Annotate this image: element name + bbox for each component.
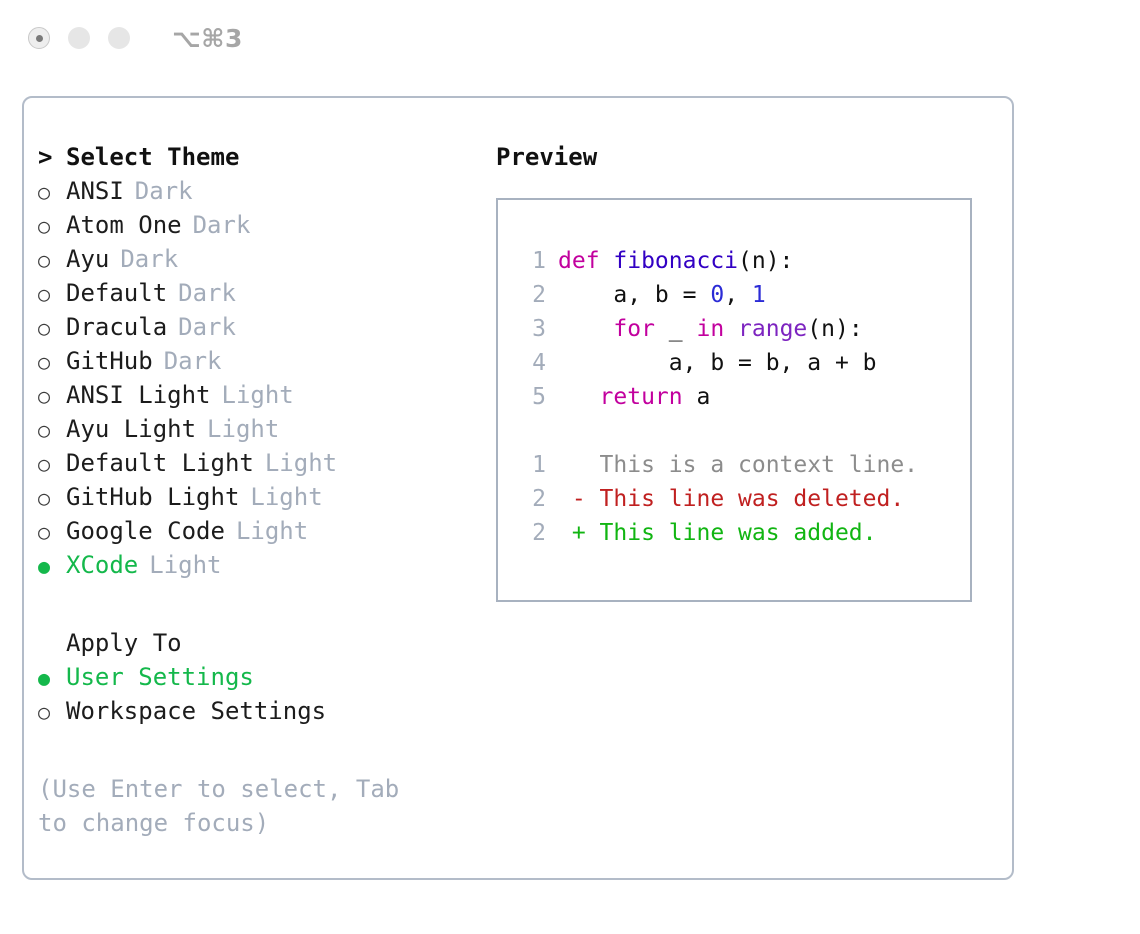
apply-to-option-workspace-settings[interactable]: ○Workspace Settings [38,694,484,728]
theme-option-github-light[interactable]: ○GitHub LightLight [38,480,484,514]
token-plain: a, b = b, a + b [558,350,877,376]
token-call: range [738,316,807,342]
theme-option-tag: Dark [120,242,178,276]
radio-selected-icon: ● [38,661,66,695]
code-text: def fibonacci(n): [558,244,793,278]
theme-option-tag: Dark [164,344,222,378]
diff-line: 2 + This line was added. [512,516,970,550]
prompt-caret-icon: > [38,140,66,174]
radio-unselected-icon: ○ [38,345,66,379]
theme-option-label: Google Code [66,514,225,548]
theme-option-label: XCode [66,548,138,582]
theme-option-label: ANSI [66,174,124,208]
line-number: 2 [512,278,546,312]
token-plain [724,316,738,342]
code-text: a, b = b, a + b [558,346,877,380]
theme-option-tag: Light [149,548,221,582]
theme-option-google-code[interactable]: ○Google CodeLight [38,514,484,548]
theme-option-ansi[interactable]: ○ANSIDark [38,174,484,208]
code-line: 3 for _ in range(n): [512,312,970,346]
line-number: 3 [512,312,546,346]
apply-to-option-user-settings[interactable]: ●User Settings [38,660,484,694]
token-fn: fibonacci [613,248,738,274]
token-plain: , [724,282,752,308]
apply-to-section: Apply To ●User Settings○Workspace Settin… [38,626,484,728]
token-plain: _ [655,316,697,342]
window-close-button[interactable] [28,27,50,49]
keyboard-shortcut-label: ⌥⌘3 [172,24,243,53]
panel-columns: > Select Theme ○ANSIDark○Atom OneDark○Ay… [24,98,1012,878]
token-kw: for [558,316,655,342]
code-preview-box: 1def fibonacci(n):2 a, b = 0, 13 for _ i… [496,198,972,602]
radio-unselected-icon: ○ [38,243,66,277]
token-kw: return [558,384,683,410]
theme-option-xcode[interactable]: ●XCodeLight [38,548,484,582]
code-text: a, b = 0, 1 [558,278,766,312]
code-sample: 1def fibonacci(n):2 a, b = 0, 13 for _ i… [512,244,970,414]
title-bar: ⌥⌘3 [0,0,1140,76]
code-text: for _ in range(n): [558,312,863,346]
theme-option-default[interactable]: ○DefaultDark [38,276,484,310]
select-theme-heading-label: Select Theme [66,140,239,174]
token-num: 1 [752,282,766,308]
theme-option-tag: Light [265,446,337,480]
code-line: 4 a, b = b, a + b [512,346,970,380]
app-window: ⌥⌘3 > Select Theme ○ANSIDark○Atom OneDar… [0,0,1140,934]
preview-column: Preview 1def fibonacci(n):2 a, b = 0, 13… [484,140,1012,878]
token-add: + This line was added. [558,520,877,546]
code-spacer [512,414,970,448]
theme-option-label: Default Light [66,446,254,480]
code-line: 2 a, b = 0, 1 [512,278,970,312]
theme-option-label: Ayu Light [66,412,196,446]
window-maximize-button[interactable] [108,27,130,49]
theme-option-tag: Light [236,514,308,548]
line-number: 4 [512,346,546,380]
radio-unselected-icon: ○ [38,695,66,729]
radio-unselected-icon: ○ [38,413,66,447]
line-number: 5 [512,380,546,414]
apply-to-heading-label: Apply To [66,626,182,660]
theme-list: ○ANSIDark○Atom OneDark○AyuDark○DefaultDa… [38,174,484,582]
radio-unselected-icon: ○ [38,481,66,515]
code-line: 1def fibonacci(n): [512,244,970,278]
apply-to-list: ●User Settings○Workspace Settings [38,660,484,728]
window-minimize-button[interactable] [68,27,90,49]
theme-option-default-light[interactable]: ○Default LightLight [38,446,484,480]
theme-option-ansi-light[interactable]: ○ANSI LightLight [38,378,484,412]
theme-option-atom-one[interactable]: ○Atom OneDark [38,208,484,242]
theme-option-ayu[interactable]: ○AyuDark [38,242,484,276]
diff-line: 2 - This line was deleted. [512,482,970,516]
radio-unselected-icon: ○ [38,447,66,481]
token-plain: (n): [738,248,793,274]
theme-option-tag: Dark [193,208,251,242]
line-number: 1 [512,448,546,482]
apply-to-heading: Apply To [38,626,484,660]
theme-option-label: Dracula [66,310,167,344]
token-plain: (n): [807,316,862,342]
theme-option-label: Default [66,276,167,310]
token-plain: a, b = [558,282,710,308]
theme-option-label: GitHub [66,344,153,378]
theme-selection-column: > Select Theme ○ANSIDark○Atom OneDark○Ay… [24,140,484,878]
radio-unselected-icon: ○ [38,379,66,413]
theme-option-tag: Light [222,378,294,412]
token-ctx: This is a context line. [558,452,918,478]
radio-selected-icon: ● [38,549,66,583]
radio-unselected-icon: ○ [38,175,66,209]
theme-option-tag: Light [207,412,279,446]
preview-heading: Preview [496,140,1012,174]
token-plain: a [683,384,711,410]
code-text: This is a context line. [558,448,918,482]
theme-option-tag: Dark [178,276,236,310]
theme-option-dracula[interactable]: ○DraculaDark [38,310,484,344]
diff-sample: 1 This is a context line.2 - This line w… [512,448,970,550]
theme-option-label: Ayu [66,242,109,276]
theme-option-ayu-light[interactable]: ○Ayu LightLight [38,412,484,446]
keyboard-hint-text: (Use Enter to select, Tab to change focu… [38,772,438,840]
radio-unselected-icon: ○ [38,277,66,311]
line-number: 2 [512,482,546,516]
code-line: 5 return a [512,380,970,414]
line-number: 2 [512,516,546,550]
theme-option-tag: Dark [178,310,236,344]
apply-to-option-label: User Settings [66,660,254,694]
theme-option-tag: Dark [135,174,193,208]
theme-option-github[interactable]: ○GitHubDark [38,344,484,378]
apply-to-option-label: Workspace Settings [66,694,326,728]
radio-unselected-icon: ○ [38,515,66,549]
code-text: + This line was added. [558,516,877,550]
select-theme-heading: > Select Theme [38,140,484,174]
token-num: 0 [710,282,724,308]
main-panel: > Select Theme ○ANSIDark○Atom OneDark○Ay… [22,96,1014,880]
theme-option-label: GitHub Light [66,480,239,514]
code-text: return a [558,380,710,414]
theme-option-tag: Light [250,480,322,514]
theme-option-label: ANSI Light [66,378,211,412]
code-text: - This line was deleted. [558,482,904,516]
theme-option-label: Atom One [66,208,182,242]
radio-unselected-icon: ○ [38,311,66,345]
token-kw: def [558,248,613,274]
token-kw: in [696,316,724,342]
line-number: 1 [512,244,546,278]
diff-line: 1 This is a context line. [512,448,970,482]
traffic-light-group [28,27,130,49]
token-del: - This line was deleted. [558,486,904,512]
radio-unselected-icon: ○ [38,209,66,243]
